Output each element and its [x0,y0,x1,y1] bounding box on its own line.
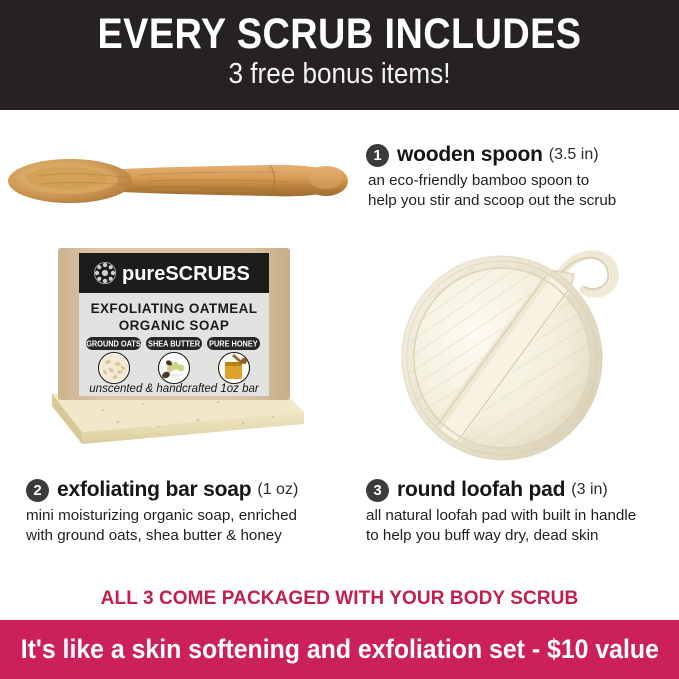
ingredient-photos [99,353,250,384]
item-3-description-line2: to help you buff way dry, dead skin [366,526,676,546]
item-1-description-line1: an eco-friendly bamboo spoon to [368,171,666,191]
page-subtitle: 3 free bonus items! [34,57,645,91]
item-2-title: exfoliating bar soap [57,478,251,502]
value-banner-text: It's like a skin softening and exfoliati… [20,634,658,665]
svg-text:SHEA BUTTER: SHEA BUTTER [148,339,200,348]
header-banner: EVERY SCRUB INCLUDES 3 free bonus items! [0,0,679,110]
item-2-description-line1: mini moisturizing organic soap, enriched [26,506,346,526]
soap-product-line2: ORGANIC SOAP [119,318,230,333]
item-2-description-line2: with ground oats, shea butter & honey [26,526,346,546]
bonus-item-3: 3 round loofah pad (3 in) all natural lo… [366,478,676,546]
svg-text:GROUND OATS: GROUND OATS [86,339,141,348]
packaging-tagline: ALL 3 COME PACKAGED WITH YOUR BODY SCRUB [0,588,679,610]
item-3-title: round loofah pad [397,478,565,502]
value-banner: It's like a skin softening and exfoliati… [0,620,679,679]
item-3-heading: 3 round loofah pad (3 in) [366,478,676,502]
item-2-heading: 2 exfoliating bar soap (1 oz) [26,478,346,502]
item-3-number-badge: 3 [366,479,389,502]
item-3-quantity: (3 in) [571,481,607,499]
wooden-spoon-image [8,150,348,212]
item-2-quantity: (1 oz) [257,481,298,499]
item-1-number-badge: 1 [366,144,389,167]
item-1-heading: 1 wooden spoon (3.5 in) [366,143,666,167]
soap-product-line1: EXFOLIATING OATMEAL [91,301,258,316]
soap-brand-text: pureSCRUBS [122,263,250,285]
item-3-description-line1: all natural loofah pad with built in han… [366,506,676,526]
item-1-quantity: (3.5 in) [549,146,599,164]
item-1-description-line2: help you stir and scoop out the scrub [368,191,666,211]
bonus-item-1: 1 wooden spoon (3.5 in) an eco-friendly … [366,143,666,211]
item-2-number-badge: 2 [26,479,49,502]
bar-soap-image: pureSCRUBS EXFOLIATING OATMEAL ORGANIC S… [48,244,310,456]
loofah-pad-image [398,238,650,470]
bonus-item-2: 2 exfoliating bar soap (1 oz) mini moist… [26,478,346,546]
svg-text:PURE HONEY: PURE HONEY [209,339,258,348]
soap-footnote: unscented & handcrafted 1oz bar [89,383,260,395]
ingredient-pills: GROUND OATS SHEA BUTTER PURE HONEY [86,337,260,350]
page-title: EVERY SCRUB INCLUDES [41,11,639,57]
item-1-title: wooden spoon [397,143,543,167]
